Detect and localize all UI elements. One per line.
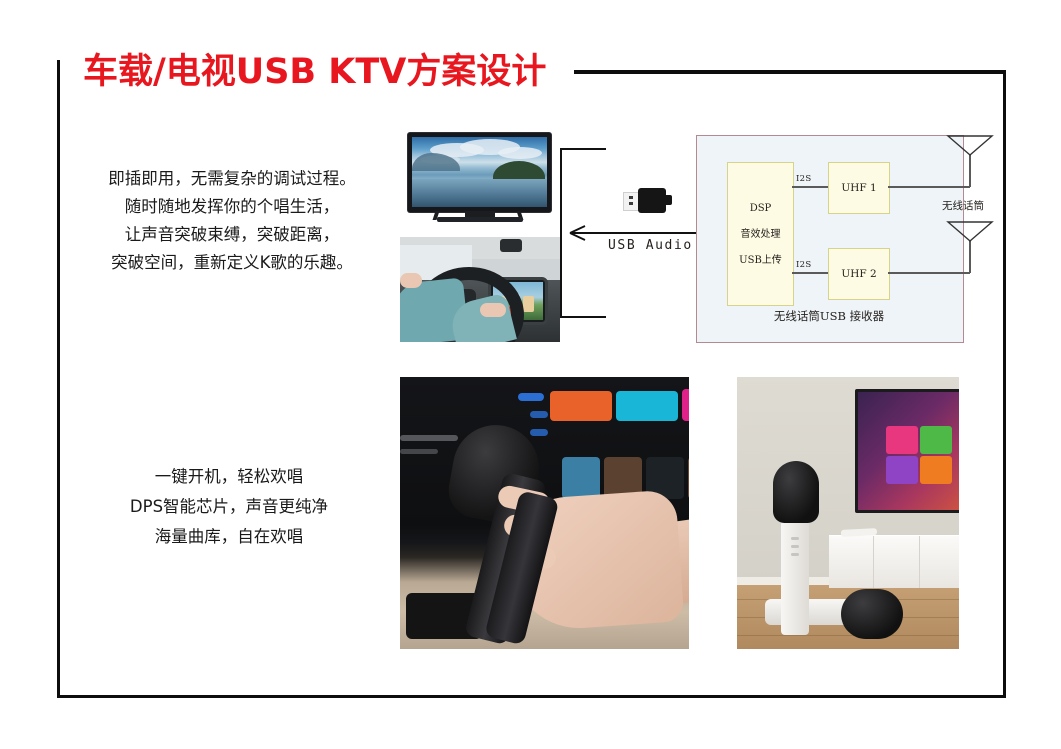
microphone-body-standing [781,519,809,635]
wireless-mic-label: 无线话筒 [942,198,984,213]
frame-left-border [57,60,60,698]
feature-copy-line: 一键开机，轻松欢唱 [84,462,374,492]
usb-audio-arrow-icon [568,224,588,242]
tv-screen-image [412,137,547,207]
car-rearview-mirror [500,239,522,252]
i2s-label-top: I2S [796,174,812,184]
uhf1-label: UHF 1 [841,182,876,194]
intro-copy-line: 突破空间，重新定义K歌的乐趣。 [76,249,388,277]
uhf2-block: UHF 2 [828,248,890,300]
dsp-function-audio: 音效处理 [741,225,781,240]
source-bracket-top [560,148,606,150]
wall-mounted-tv [855,389,959,513]
i2s-link-top [792,186,828,188]
system-block-diagram: USB Audio DSP 音效处理 USB上传 I2S I2S UHF 1 U… [560,120,1006,350]
antenna-icon [946,220,994,242]
usb-audio-label: USB Audio [608,238,693,253]
feature-copy-block: 一键开机，轻松欢唱 DPS智能芯片，声音更纯净 海量曲库，自在欢唱 [84,462,374,552]
antenna-feed-top [888,186,970,188]
intro-copy-block: 即插即用，无需复杂的调试过程。 随时随地发挥你的个唱生活， 让声音突破束缚，突破… [76,165,388,277]
living-room-microphones-photo [737,377,959,649]
source-bracket [560,148,562,318]
dsp-block: DSP 音效处理 USB上传 [727,162,794,306]
frame-bottom-border [57,695,1006,698]
tv-stand-foot [437,217,523,222]
car-interior-photo [400,237,560,342]
feature-copy-line: 海量曲库，自在欢唱 [84,522,374,552]
uhf2-label: UHF 2 [841,268,876,280]
intro-copy-line: 随时随地发挥你的个唱生活， [76,193,388,221]
tv-cabinet [829,535,959,588]
tv-bezel [408,133,551,212]
uhf1-block: UHF 1 [828,162,890,214]
i2s-label-bottom: I2S [796,260,812,270]
title-rule [574,70,1006,74]
intro-copy-line: 即插即用，无需复杂的调试过程。 [76,165,388,193]
car-driver-hand [400,273,422,288]
antenna-mast-bottom [969,240,971,273]
usb-audio-line [572,232,698,234]
car-driver-hand [480,303,506,317]
usb-plug-icon [623,188,669,212]
page-title: 车载/电视USB KTV方案设计 [83,43,546,94]
antenna-feed-bottom [888,272,970,274]
intro-copy-line: 让声音突破束缚，突破距离， [76,221,388,249]
i2s-link-bottom [792,272,828,274]
microphone-foam-head-lying [841,589,903,639]
source-bracket-bottom [560,316,606,318]
receiver-caption: 无线话筒USB 接收器 [696,308,962,324]
microphone-in-car-photo [400,377,689,649]
feature-copy-line: DPS智能芯片，声音更纯净 [84,492,374,522]
tv-photo [400,127,560,233]
antenna-icon [946,134,994,156]
dsp-title: DSP [750,203,772,214]
microphone-foam-head-standing [773,461,819,523]
antenna-mast-top [969,154,971,187]
dsp-function-usb: USB上传 [739,251,782,266]
